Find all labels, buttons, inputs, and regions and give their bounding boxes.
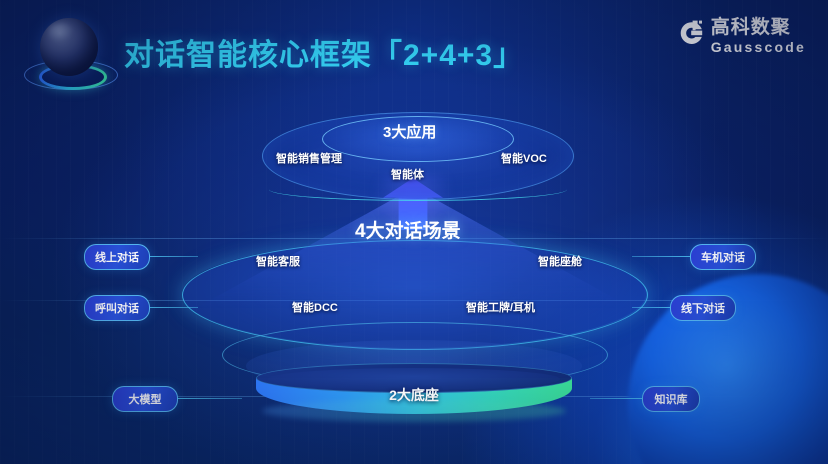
connector-left-online [146,256,198,257]
application-node-agent: 智能体 [391,166,424,182]
sphere-podium-icon [24,12,116,104]
connector-right-offline [632,307,670,308]
slide-canvas: 对话智能核心框架「2+4+3」 高科数聚 Gausscode 2大底座 3大应用… [0,0,828,464]
brand-name-en: Gausscode [711,40,806,54]
application-node-voc: 智能VOC [501,150,547,166]
scenarios-title: 4大对话场景 [355,216,461,243]
sphere-highlight [48,23,74,41]
scenario-node-badge: 智能工牌/耳机 [466,299,535,315]
pill-online-dialogue[interactable]: 线上对话 [84,244,150,270]
application-node-sales: 智能销售管理 [276,150,342,166]
applications-title: 3大应用 [383,121,436,142]
page-title: 对话智能核心框架「2+4+3」 [124,30,524,74]
gausscode-logo-icon [678,20,704,46]
pill-large-model[interactable]: 大模型 [112,386,178,412]
pill-offline-dialogue[interactable]: 线下对话 [670,295,736,321]
pill-knowledge-base[interactable]: 知识库 [642,386,700,412]
connector-left-model [176,398,242,399]
brand-logo: 高科数聚 Gausscode [678,18,806,54]
pill-car-dialogue[interactable]: 车机对话 [690,244,756,270]
brand-text: 高科数聚 Gausscode [711,18,806,54]
connector-right-car [632,256,690,257]
connector-right-kb [590,398,642,399]
scenario-node-dcc: 智能DCC [292,299,338,315]
connector-left-call [146,307,198,308]
pill-call-dialogue[interactable]: 呼叫对话 [84,295,150,321]
brand-name-cn: 高科数聚 [711,18,806,37]
scenario-node-cockpit: 智能座舱 [538,253,582,269]
scenario-node-service: 智能客服 [256,253,300,269]
